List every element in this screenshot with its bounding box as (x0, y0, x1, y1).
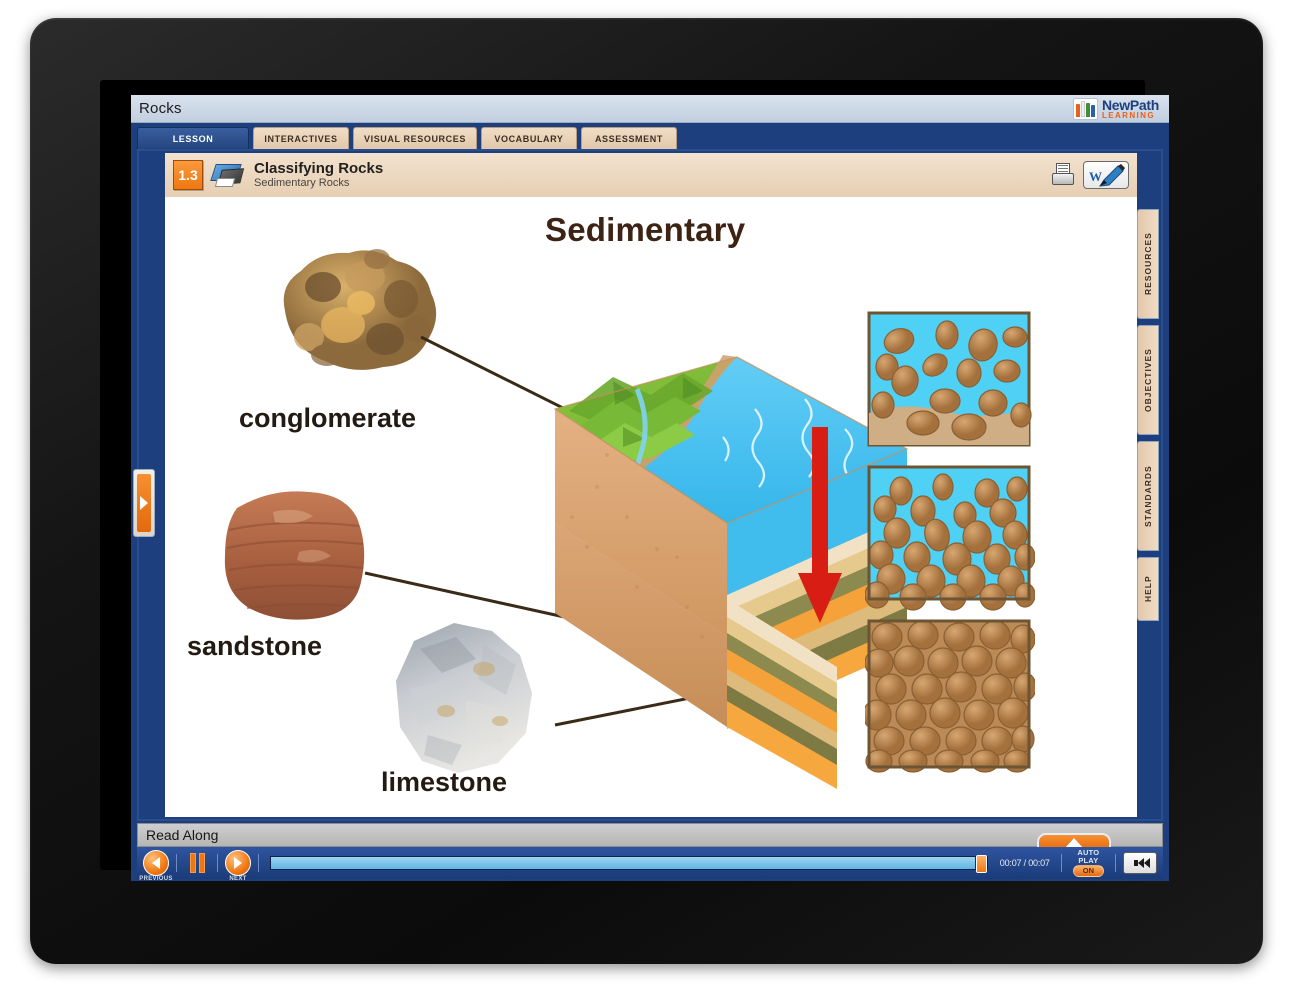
divider (258, 854, 259, 872)
application-window: Rocks NewPath LEARNING LESSON INTERACTIV… (131, 95, 1169, 881)
side-tab-rail[interactable]: RESOURCES OBJECTIVES STANDARDS HELP (1137, 209, 1159, 621)
side-tab-resources[interactable]: RESOURCES (1137, 209, 1159, 319)
lesson-title: Classifying Rocks (254, 160, 383, 177)
conglomerate-specimen (265, 241, 450, 376)
tab-lesson[interactable]: LESSON (137, 127, 249, 149)
sedimentary-block-diagram (437, 337, 917, 807)
previous-label: PREVIOUS (139, 876, 172, 881)
pause-button[interactable] (184, 850, 210, 876)
tab-visual-resources[interactable]: VISUAL RESOURCES (353, 127, 477, 149)
previous-button[interactable]: PREVIOUS (143, 850, 169, 876)
slide-canvas: Sedimentary (165, 197, 1137, 817)
divider (1061, 854, 1062, 872)
timecode: 00:07 / 00:07 (996, 858, 1054, 868)
tab-assessment[interactable]: ASSESSMENT (581, 127, 677, 149)
lesson-header: 1.3 Classifying Rocks Sedimentary Rocks … (165, 153, 1137, 197)
autoplay-label-2: PLAY (1078, 857, 1098, 865)
media-player-bar: PREVIOUS NEXT 00:07 / 00:07 AUTO PLAY ON (137, 847, 1163, 879)
autoplay-state: ON (1073, 865, 1104, 877)
main-tab-bar[interactable]: LESSON INTERACTIVES VISUAL RESOURCES VOC… (131, 123, 1169, 149)
progress-fill (271, 857, 975, 869)
autoplay-toggle[interactable]: AUTO PLAY ON (1069, 849, 1108, 877)
lesson-subtitle: Sedimentary Rocks (254, 177, 383, 190)
slide-heading: Sedimentary (545, 211, 745, 249)
down-arrow (795, 427, 845, 627)
sandstone-specimen (213, 482, 378, 627)
side-tab-objectives[interactable]: OBJECTIVES (1137, 325, 1159, 435)
divider (1115, 854, 1116, 872)
divider (176, 854, 177, 872)
books-icon (1073, 98, 1098, 120)
pause-icon (190, 853, 205, 873)
progress-knob[interactable] (976, 855, 987, 873)
title-strip: Rocks NewPath LEARNING (131, 95, 1169, 123)
label-conglomerate: conglomerate (239, 403, 416, 434)
lesson-number-badge: 1.3 (173, 160, 203, 190)
document-title: Rocks (131, 100, 182, 117)
logo-line2: LEARNING (1102, 112, 1159, 120)
deposition-panel-2 (865, 467, 1035, 610)
deposition-panel-3 (865, 621, 1035, 772)
chevron-right-icon (140, 496, 148, 510)
printer-icon[interactable] (1050, 162, 1076, 188)
progress-slider[interactable] (270, 856, 988, 870)
read-along-bar: Read Along (137, 823, 1163, 847)
pen-glyph (1097, 163, 1127, 189)
newpath-logo: NewPath LEARNING (1073, 98, 1159, 120)
divider (217, 854, 218, 872)
tab-interactives[interactable]: INTERACTIVES (253, 127, 349, 149)
volume-icon (1129, 856, 1151, 870)
volume-button[interactable] (1123, 852, 1157, 874)
deposition-panels (865, 309, 1035, 779)
arrow-left-icon (152, 857, 160, 869)
whiteboard-pen-icon[interactable]: W (1083, 161, 1129, 189)
label-sandstone: sandstone (187, 631, 322, 662)
next-label: NEXT (229, 876, 246, 881)
content-frame: 1.3 Classifying Rocks Sedimentary Rocks … (137, 149, 1163, 821)
tab-vocabulary[interactable]: VOCABULARY (481, 127, 577, 149)
read-along-label: Read Along (138, 827, 218, 843)
side-tab-standards[interactable]: STANDARDS (1137, 441, 1159, 551)
next-button[interactable]: NEXT (225, 850, 251, 876)
side-tab-help[interactable]: HELP (1137, 557, 1159, 621)
arrow-right-icon (234, 857, 242, 869)
deposition-panel-1 (869, 313, 1031, 445)
lesson-book-icon (211, 161, 245, 189)
expand-panel-handle[interactable] (133, 469, 155, 537)
logo-line1: NewPath (1102, 98, 1159, 112)
